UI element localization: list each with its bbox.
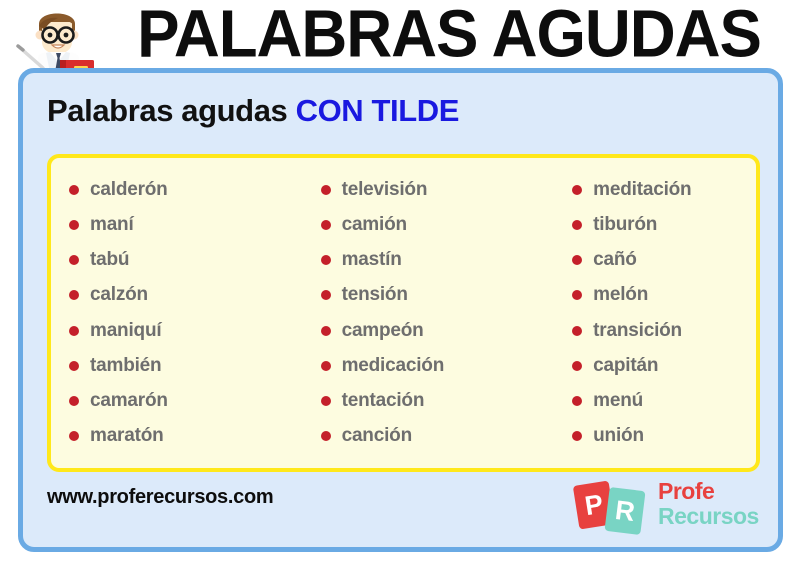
word-label: maní <box>90 214 134 236</box>
bullet-icon <box>321 185 331 195</box>
bullet-icon <box>69 431 79 441</box>
word-label: maratón <box>90 425 164 447</box>
main-panel: Palabras agudas CON TILDE calderón maní <box>18 68 783 552</box>
logo-text-profe: Profe <box>658 479 759 504</box>
bullet-icon <box>572 255 582 265</box>
list-item: menú <box>572 384 756 419</box>
proferecursos-logo[interactable]: P R Profe Recursos <box>574 477 764 533</box>
word-label: tentación <box>342 390 425 412</box>
bullet-icon <box>321 326 331 336</box>
list-item: cañó <box>572 243 756 278</box>
bullet-icon <box>69 255 79 265</box>
bullet-icon <box>321 431 331 441</box>
bullet-icon <box>572 290 582 300</box>
word-label: capitán <box>593 355 658 377</box>
list-item: camión <box>321 207 573 242</box>
logo-text-recursos: Recursos <box>658 504 759 529</box>
word-label: calderón <box>90 179 168 201</box>
word-columns: calderón maní tabú calzón <box>51 158 756 468</box>
logo-card-r: R <box>604 487 645 535</box>
word-column-1: calderón maní tabú calzón <box>69 172 321 454</box>
bullet-icon <box>69 290 79 300</box>
subtitle-highlight-text: CON TILDE <box>296 93 459 128</box>
word-label: cañó <box>593 249 637 271</box>
bullet-icon <box>69 361 79 371</box>
word-label: medicación <box>342 355 445 377</box>
word-label: campeón <box>342 320 424 342</box>
section-subtitle: Palabras agudas CON TILDE <box>47 93 459 129</box>
logo-cards-icon: P R <box>574 483 650 529</box>
word-list-box: calderón maní tabú calzón <box>47 154 760 472</box>
word-label: tensión <box>342 284 408 306</box>
bullet-icon <box>321 361 331 371</box>
subtitle-plain-text: Palabras agudas <box>47 93 296 128</box>
bullet-icon <box>69 220 79 230</box>
site-url[interactable]: www.proferecursos.com <box>47 486 273 509</box>
word-label: unión <box>593 425 644 447</box>
list-item: calzón <box>69 278 321 313</box>
logo-wordmark: Profe Recursos <box>658 479 759 529</box>
bullet-icon <box>572 396 582 406</box>
list-item: tiburón <box>572 207 756 242</box>
word-label: mastín <box>342 249 402 271</box>
list-item: transición <box>572 313 756 348</box>
word-label: tiburón <box>593 214 657 236</box>
list-item: camarón <box>69 384 321 419</box>
bullet-icon <box>321 220 331 230</box>
word-label: también <box>90 355 161 377</box>
word-column-3: meditación tiburón cañó melón <box>572 172 756 454</box>
list-item: canción <box>321 419 573 454</box>
bullet-icon <box>69 326 79 336</box>
list-item: mastín <box>321 243 573 278</box>
header: PALABRAS AGUDAS <box>0 0 801 72</box>
word-label: televisión <box>342 179 428 201</box>
bullet-icon <box>572 220 582 230</box>
list-item: capitán <box>572 348 756 383</box>
list-item: maní <box>69 207 321 242</box>
bullet-icon <box>69 185 79 195</box>
word-label: camión <box>342 214 407 236</box>
word-label: menú <box>593 390 643 412</box>
list-item: meditación <box>572 172 756 207</box>
word-label: camarón <box>90 390 168 412</box>
list-item: televisión <box>321 172 573 207</box>
word-label: canción <box>342 425 412 447</box>
list-item: tabú <box>69 243 321 278</box>
bullet-icon <box>572 361 582 371</box>
bullet-icon <box>572 185 582 195</box>
list-item: melón <box>572 278 756 313</box>
page-title: PALABRAS AGUDAS <box>83 0 801 74</box>
bullet-icon <box>321 396 331 406</box>
bullet-icon <box>321 255 331 265</box>
word-label: melón <box>593 284 648 306</box>
list-item: unión <box>572 419 756 454</box>
list-item: tentación <box>321 384 573 419</box>
list-item: maratón <box>69 419 321 454</box>
list-item: maniquí <box>69 313 321 348</box>
bullet-icon <box>321 290 331 300</box>
word-column-2: televisión camión mastín tensión <box>321 172 573 454</box>
word-label: transición <box>593 320 682 342</box>
bullet-icon <box>572 326 582 336</box>
list-item: también <box>69 348 321 383</box>
word-label: meditación <box>593 179 691 201</box>
list-item: calderón <box>69 172 321 207</box>
bullet-icon <box>69 396 79 406</box>
word-label: maniquí <box>90 320 161 342</box>
bullet-icon <box>572 431 582 441</box>
infographic-root: PALABRAS AGUDAS Palabras agudas CON TILD… <box>0 0 801 566</box>
list-item: tensión <box>321 278 573 313</box>
word-label: calzón <box>90 284 148 306</box>
list-item: medicación <box>321 348 573 383</box>
word-label: tabú <box>90 249 129 271</box>
list-item: campeón <box>321 313 573 348</box>
